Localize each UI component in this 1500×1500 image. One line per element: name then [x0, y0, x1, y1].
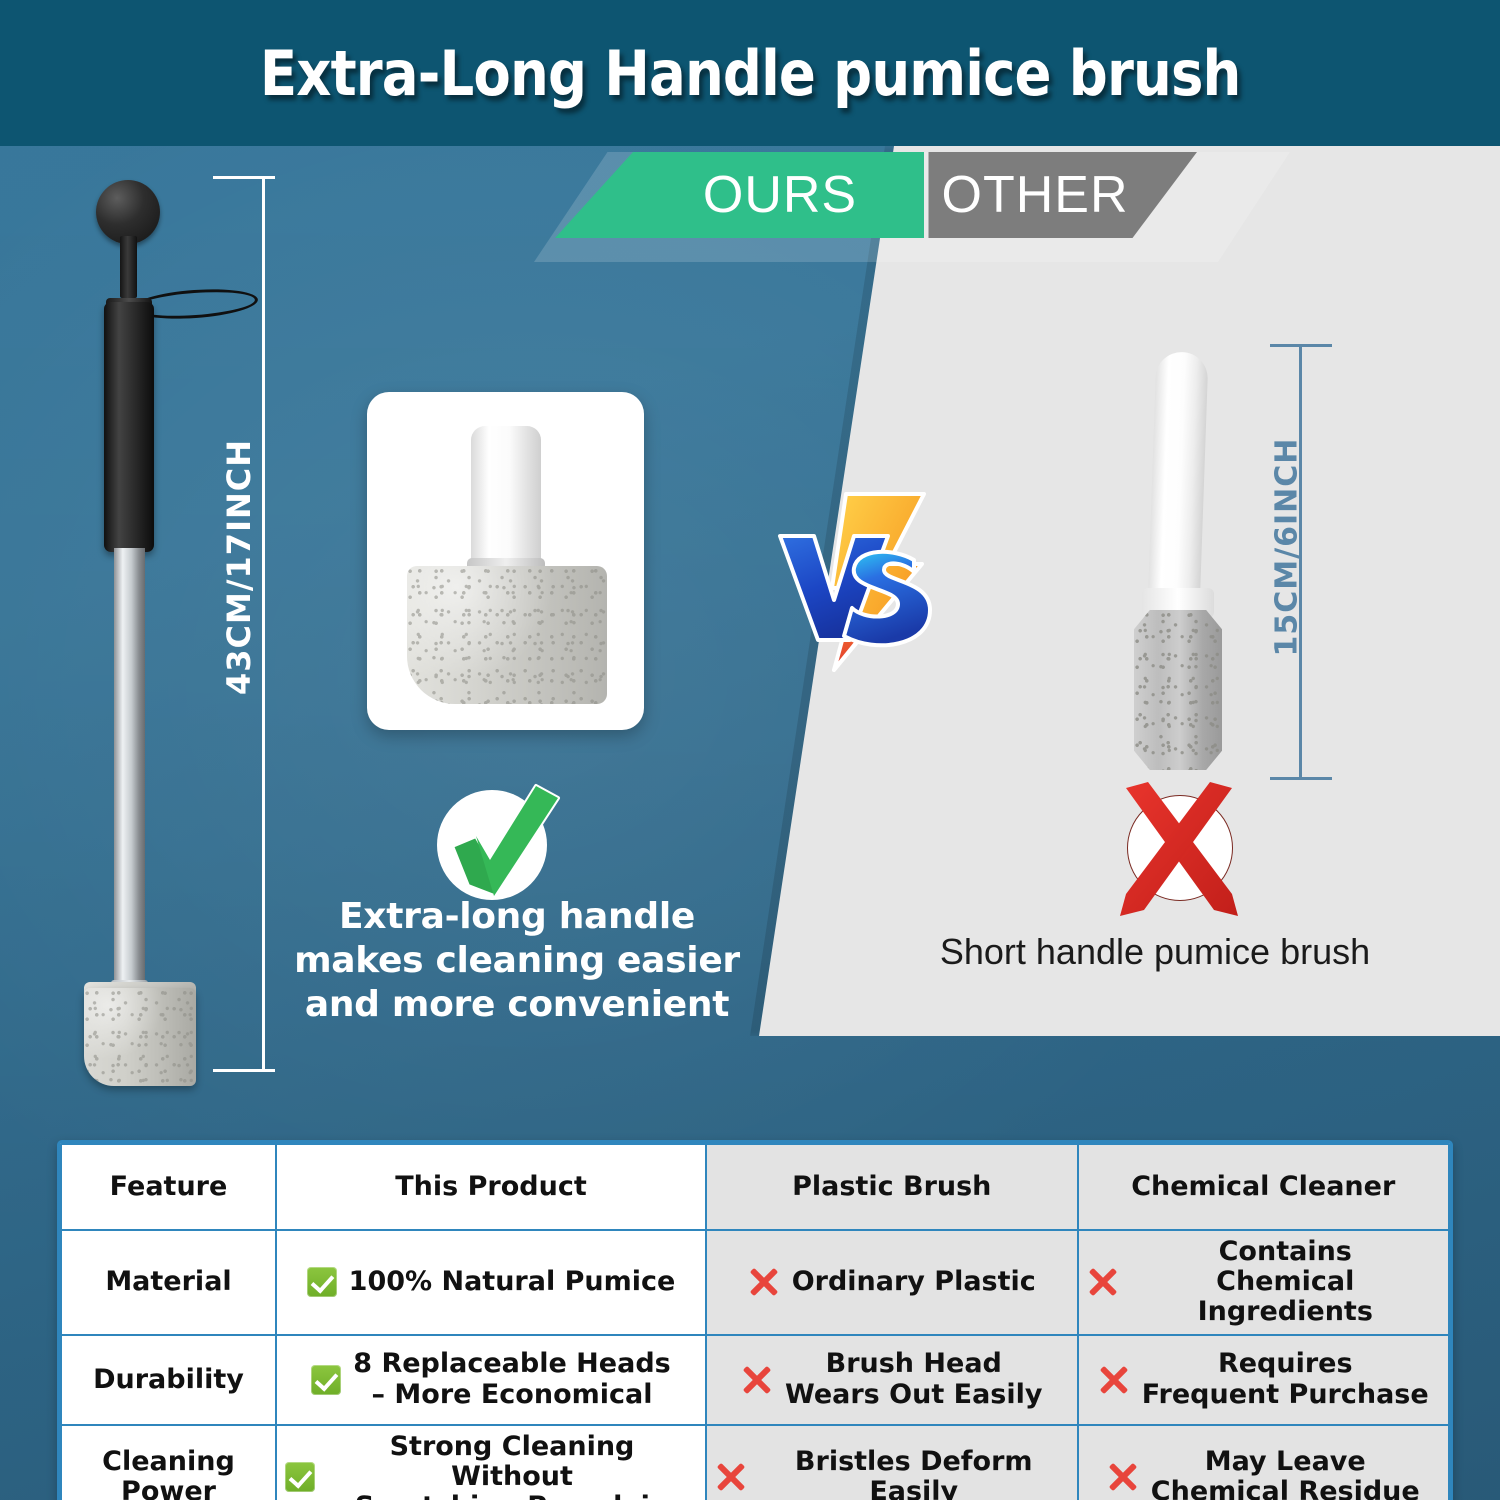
dimension-cap-top — [213, 176, 275, 179]
cell-plastic-brush: Ordinary Plastic — [706, 1230, 1078, 1335]
cell-text: 100% Natural Pumice — [349, 1267, 676, 1297]
dimension-cap-bottom — [213, 1069, 275, 1072]
cell-feature: Material — [61, 1230, 276, 1335]
steel-rod — [114, 548, 145, 988]
cell-text: Strong Cleaning WithoutScratching Porcel… — [327, 1432, 697, 1500]
right-caption: Short handle pumice brush — [895, 930, 1415, 973]
comparison-table-wrapper: Feature This Product Plastic Brush Chemi… — [57, 1140, 1453, 1500]
cell-feature: Cleaning Power — [61, 1425, 276, 1500]
dimension-vertical-line — [262, 176, 265, 1072]
photo-pumice-block — [407, 566, 607, 704]
left-caption: Extra-long handle makes cleaning easier … — [292, 895, 742, 1027]
cell-text: Brush HeadWears Out Easily — [785, 1349, 1042, 1409]
cell-this-product: Strong Cleaning WithoutScratching Porcel… — [276, 1425, 706, 1500]
cross-icon — [741, 1364, 773, 1396]
cell-text: Bristles Deform Easily — [759, 1447, 1069, 1500]
ours-label: OURS — [680, 152, 880, 238]
dimension-cap-bottom — [1270, 777, 1332, 780]
cell-text: Ordinary Plastic — [792, 1267, 1036, 1297]
page-title: Extra-Long Handle pumice brush — [260, 37, 1241, 110]
cell-text: RequiresFrequent Purchase — [1142, 1349, 1429, 1409]
short-pumice-block — [1134, 610, 1222, 770]
other-label: OTHER — [925, 152, 1145, 238]
cross-icon — [748, 1266, 780, 1298]
cell-plastic-brush: Brush HeadWears Out Easily — [706, 1335, 1078, 1425]
product-photo-card — [367, 392, 644, 730]
cell-this-product: 8 Replaceable Heads– More Economical — [276, 1335, 706, 1425]
cell-text: 8 Replaceable Heads– More Economical — [353, 1349, 670, 1409]
handle-knob — [96, 180, 160, 244]
vs-badge-icon — [772, 478, 942, 678]
photo-pumice-texture — [407, 566, 607, 704]
handle-grip — [104, 302, 154, 552]
check-icon — [285, 1462, 315, 1492]
right-dimension-line: 15CM/6INCH — [1270, 344, 1332, 780]
check-icon — [307, 1267, 337, 1297]
cell-feature: Durability — [61, 1335, 276, 1425]
left-dimension-line: 43CM/17INCH — [213, 176, 275, 1072]
th-plastic-brush: Plastic Brush — [706, 1144, 1078, 1230]
short-plastic-handle — [1147, 351, 1208, 613]
table-header-row: Feature This Product Plastic Brush Chemi… — [61, 1144, 1449, 1230]
th-this-product: This Product — [276, 1144, 706, 1230]
cell-text: May LeaveChemical Residue — [1151, 1447, 1420, 1500]
th-feature: Feature — [61, 1144, 276, 1230]
cross-icon — [715, 1461, 747, 1493]
table-body: Material 100% Natural Pumice Ordinary Pl… — [61, 1230, 1449, 1500]
left-dimension-label: 43CM/17INCH — [220, 495, 258, 695]
cell-text: ContainsChemical Ingredients — [1131, 1237, 1441, 1328]
pumice-texture — [84, 988, 196, 1086]
short-pumice-texture — [1134, 610, 1222, 770]
red-cross-icon — [1108, 778, 1250, 920]
cell-this-product: 100% Natural Pumice — [276, 1230, 706, 1335]
cell-chemical-cleaner: ContainsChemical Ingredients — [1078, 1230, 1450, 1335]
photo-plastic-cap — [471, 426, 541, 566]
comparison-table: Feature This Product Plastic Brush Chemi… — [60, 1143, 1450, 1500]
right-dimension-label: 15CM/6INCH — [1270, 447, 1305, 657]
table-row: Cleaning Power Strong Cleaning WithoutSc… — [61, 1425, 1449, 1500]
cross-icon — [1087, 1266, 1119, 1298]
check-icon — [311, 1365, 341, 1395]
short-handle-brush-illustration — [1118, 352, 1238, 772]
cell-chemical-cleaner: May LeaveChemical Residue — [1078, 1425, 1450, 1500]
cell-plastic-brush: Bristles Deform Easily — [706, 1425, 1078, 1500]
long-handle-brush-illustration — [70, 180, 230, 1080]
cell-chemical-cleaner: RequiresFrequent Purchase — [1078, 1335, 1450, 1425]
cross-icon — [1107, 1461, 1139, 1493]
pumice-head — [84, 988, 196, 1086]
cross-icon — [1098, 1364, 1130, 1396]
handle-neck — [120, 236, 137, 298]
infographic-stage: Extra-Long Handle pumice brush OURS OTHE… — [0, 0, 1500, 1500]
table-row: Material 100% Natural Pumice Ordinary Pl… — [61, 1230, 1449, 1335]
th-chemical-cleaner: Chemical Cleaner — [1078, 1144, 1450, 1230]
table-row: Durability 8 Replaceable Heads– More Eco… — [61, 1335, 1449, 1425]
header-bar: Extra-Long Handle pumice brush — [0, 0, 1500, 146]
